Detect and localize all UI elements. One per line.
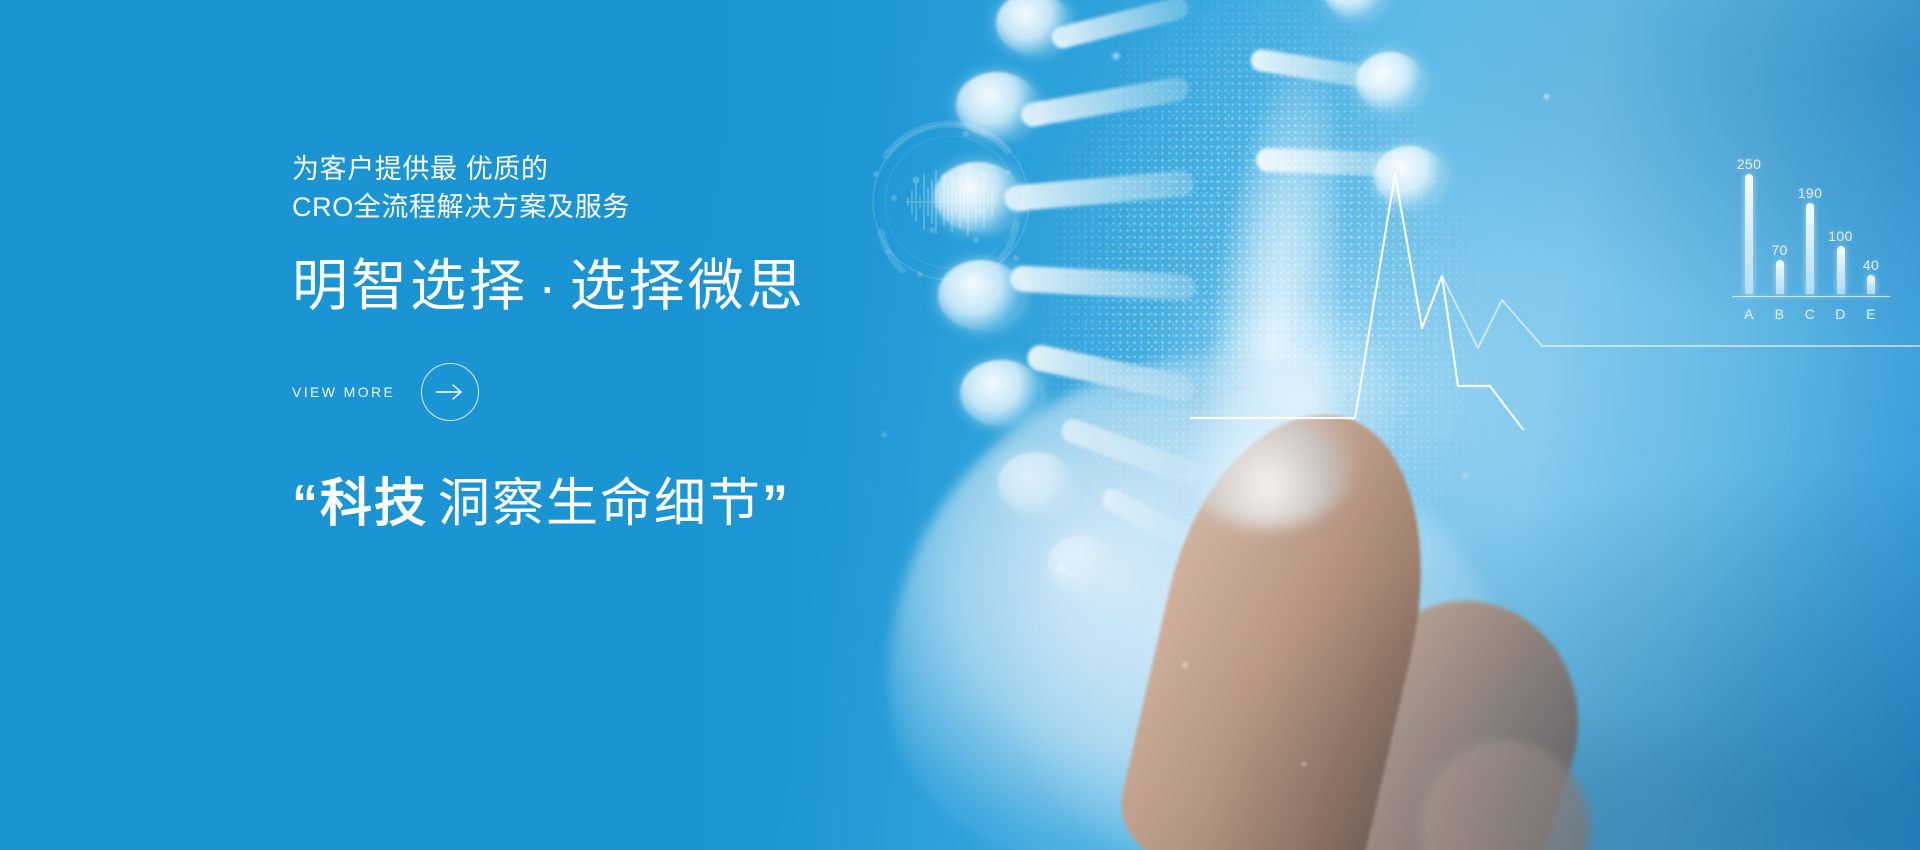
arrow-right-icon[interactable]	[421, 363, 479, 421]
view-more-label: VIEW MORE	[292, 384, 395, 400]
subtitle-line-1: 为客户提供最 优质的	[292, 150, 1112, 188]
subtitle-line-2: CRO全流程解决方案及服务	[292, 188, 1112, 226]
tagline-quote: “科技洞察生命细节”	[292, 473, 1112, 535]
page-title: 明智选择·选择微思	[292, 253, 1112, 319]
quote-normal-text: 洞察生命细节	[428, 475, 762, 533]
headline-left: 明智选择	[292, 254, 528, 317]
hero-banner: 250 70 190 100 40 A B C	[0, 0, 1920, 850]
quote-close-mark: ”	[762, 475, 790, 533]
headline-right: 选择微思	[570, 254, 806, 317]
quote-strong-text: 科技	[320, 475, 428, 533]
quote-open-mark: “	[292, 475, 320, 533]
view-more-button[interactable]: VIEW MORE	[292, 363, 479, 421]
hero-content: 为客户提供最 优质的 CRO全流程解决方案及服务 明智选择·选择微思 VIEW …	[292, 150, 1112, 535]
headline-separator: ·	[528, 254, 570, 317]
